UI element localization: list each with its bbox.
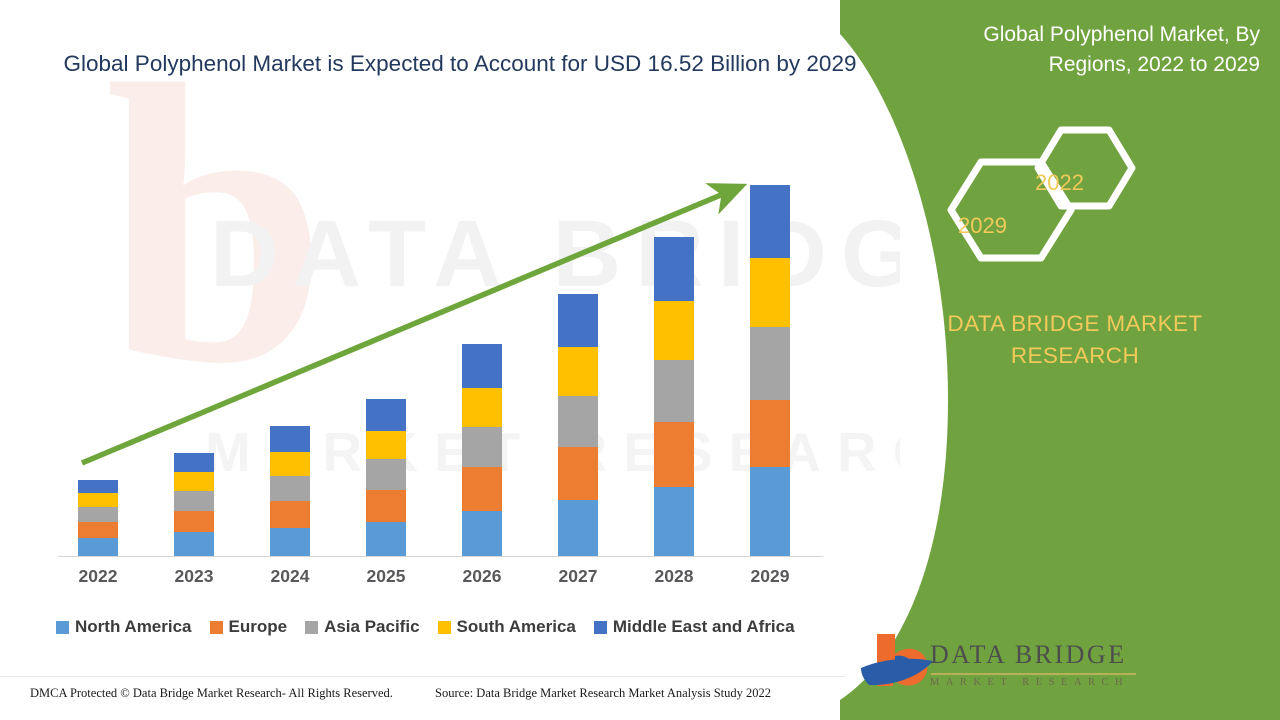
bar-segment[interactable] (462, 467, 502, 511)
hexagon-label-2022: 2022 (1035, 170, 1084, 196)
bar-segment[interactable] (366, 399, 406, 431)
bar-segment[interactable] (654, 422, 694, 487)
bar-column-2023[interactable] (174, 453, 214, 556)
logo-main-text: DATA BRIDGE (930, 640, 1136, 670)
footer-source: Source: Data Bridge Market Research Mark… (435, 686, 771, 701)
x-axis-label-2028: 2028 (629, 566, 719, 587)
x-axis-label-2026: 2026 (437, 566, 527, 587)
bar-segment[interactable] (558, 294, 598, 347)
chart-legend: North AmericaEuropeAsia PacificSouth Ame… (56, 617, 813, 637)
bar-segment[interactable] (366, 431, 406, 459)
legend-item-middle-east-and-africa[interactable]: Middle East and Africa (594, 617, 795, 637)
stacked-bar-chart: 20222023202420252026202720282029 (0, 0, 900, 720)
legend-label: Middle East and Africa (613, 617, 795, 637)
hexagon-label-2029: 2029 (958, 213, 1007, 239)
logo-sub-text: MARKET RESEARCH (930, 677, 1136, 688)
bar-segment[interactable] (462, 511, 502, 556)
bar-segment[interactable] (558, 347, 598, 396)
bar-column-2022[interactable] (78, 480, 118, 556)
legend-item-south-america[interactable]: South America (438, 617, 576, 637)
legend-swatch-icon (56, 621, 69, 634)
logo-wordmark: DATA BRIDGE MARKET RESEARCH (930, 640, 1136, 688)
bar-segment[interactable] (750, 327, 790, 400)
bar-segment[interactable] (78, 507, 118, 522)
bar-segment[interactable] (558, 500, 598, 556)
x-axis-label-2022: 2022 (53, 566, 143, 587)
legend-label: South America (457, 617, 576, 637)
bar-column-2028[interactable] (654, 237, 694, 556)
bar-segment[interactable] (558, 447, 598, 500)
legend-item-asia-pacific[interactable]: Asia Pacific (305, 617, 419, 637)
footer-copyright: DMCA Protected © Data Bridge Market Rese… (30, 686, 393, 701)
bar-segment[interactable] (366, 490, 406, 522)
legend-swatch-icon (210, 621, 223, 634)
bar-segment[interactable] (78, 493, 118, 507)
bar-segment[interactable] (654, 301, 694, 360)
bar-segment[interactable] (366, 522, 406, 556)
logo-divider (931, 673, 1136, 675)
x-axis-line (58, 556, 823, 557)
bar-segment[interactable] (750, 400, 790, 467)
panel-title: Global Polyphenol Market, By Regions, 20… (930, 20, 1260, 81)
green-side-panel: Global Polyphenol Market, By Regions, 20… (840, 0, 1280, 720)
bar-segment[interactable] (174, 532, 214, 556)
bar-segment[interactable] (78, 522, 118, 538)
bar-column-2025[interactable] (366, 399, 406, 556)
bar-column-2027[interactable] (558, 294, 598, 556)
bar-segment[interactable] (270, 476, 310, 501)
bar-segment[interactable] (270, 452, 310, 476)
bar-segment[interactable] (174, 453, 214, 472)
bar-segment[interactable] (78, 480, 118, 493)
brand-name: DATA BRIDGE MARKET RESEARCH (910, 308, 1240, 372)
bar-column-2029[interactable] (750, 185, 790, 556)
bar-segment[interactable] (270, 528, 310, 556)
footer-divider (0, 676, 845, 677)
chart-panel: b DATA BRIDGE MARKET RESEARCH Global Pol… (0, 0, 900, 720)
bar-segment[interactable] (750, 467, 790, 556)
x-axis-label-2029: 2029 (725, 566, 815, 587)
hexagon-pair-graphic (935, 118, 1155, 298)
bar-segment[interactable] (750, 185, 790, 258)
bar-segment[interactable] (462, 344, 502, 388)
bar-segment[interactable] (654, 237, 694, 301)
bar-segment[interactable] (654, 487, 694, 556)
bar-segment[interactable] (270, 426, 310, 452)
legend-item-north-america[interactable]: North America (56, 617, 192, 637)
x-axis-label-2024: 2024 (245, 566, 335, 587)
x-axis-label-2027: 2027 (533, 566, 623, 587)
bar-segment[interactable] (174, 491, 214, 511)
bar-segment[interactable] (750, 258, 790, 327)
bar-column-2024[interactable] (270, 426, 310, 556)
x-axis-label-2025: 2025 (341, 566, 431, 587)
bar-segment[interactable] (78, 538, 118, 556)
legend-swatch-icon (594, 621, 607, 634)
bar-segment[interactable] (462, 388, 502, 427)
legend-swatch-icon (438, 621, 451, 634)
bar-segment[interactable] (174, 511, 214, 532)
legend-label: North America (75, 617, 192, 637)
bar-segment[interactable] (366, 459, 406, 490)
bar-column-2026[interactable] (462, 344, 502, 556)
legend-item-europe[interactable]: Europe (210, 617, 288, 637)
legend-swatch-icon (305, 621, 318, 634)
legend-label: Asia Pacific (324, 617, 419, 637)
legend-label: Europe (229, 617, 288, 637)
bar-segment[interactable] (558, 396, 598, 447)
bar-segment[interactable] (174, 472, 214, 491)
bar-segment[interactable] (654, 360, 694, 422)
bar-segment[interactable] (462, 427, 502, 467)
bar-segment[interactable] (270, 501, 310, 528)
x-axis-label-2023: 2023 (149, 566, 239, 587)
